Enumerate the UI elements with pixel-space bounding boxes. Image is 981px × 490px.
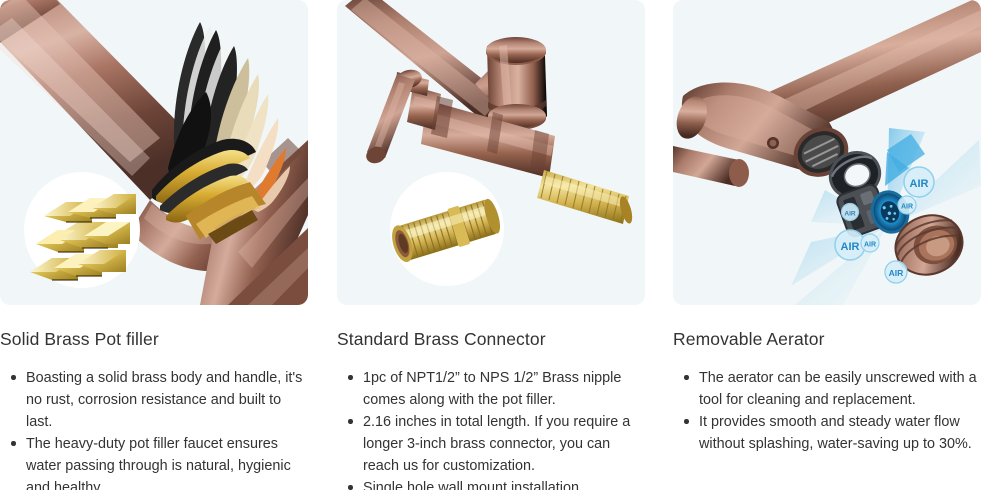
feature-column-1: Solid Brass Pot filler Boasting a solid … bbox=[0, 0, 308, 490]
column-gap-1 bbox=[308, 0, 337, 490]
bullet-text: Single hole wall mount installation bbox=[363, 480, 579, 490]
air-badge: AIR bbox=[835, 230, 865, 260]
list-item: 1pc of NPT1/2” to NPS 1/2” Brass nipple … bbox=[337, 367, 645, 411]
bullet-text: The heavy-duty pot filler faucet ensures… bbox=[26, 436, 291, 490]
svg-text:AIR: AIR bbox=[841, 241, 860, 253]
bullet-dot-icon bbox=[348, 375, 353, 380]
feature-column-2: Standard Brass Connector 1pc of NPT1/2” … bbox=[337, 0, 645, 490]
aerator-exploded-illustration: AIR AIR AIR bbox=[673, 0, 981, 305]
feature-heading-1: Solid Brass Pot filler bbox=[0, 328, 308, 350]
brass-bars-inset-circle bbox=[24, 172, 140, 288]
product-image-solid-brass-pot-filler bbox=[0, 0, 308, 305]
bullet-text: The aerator can be easily unscrewed with… bbox=[699, 370, 977, 408]
bullet-dot-icon bbox=[11, 375, 16, 380]
list-item: It provides smooth and steady water flow… bbox=[673, 411, 981, 455]
product-image-standard-brass-connector bbox=[337, 0, 645, 305]
list-item: Boasting a solid brass body and handle, … bbox=[0, 367, 308, 433]
svg-text:AIR: AIR bbox=[864, 242, 876, 249]
pot-filler-cutaway-illustration bbox=[0, 0, 308, 305]
list-item: Single hole wall mount installation bbox=[337, 477, 645, 490]
bullet-dot-icon bbox=[684, 375, 689, 380]
bullet-dot-icon bbox=[11, 441, 16, 446]
feature-bullets-1: Boasting a solid brass body and handle, … bbox=[0, 367, 308, 490]
bullet-text: It provides smooth and steady water flow… bbox=[699, 414, 972, 452]
product-image-removable-aerator: AIR AIR AIR bbox=[673, 0, 981, 305]
list-item: The aerator can be easily unscrewed with… bbox=[673, 367, 981, 411]
bullet-dot-icon bbox=[348, 419, 353, 424]
bullet-text: 1pc of NPT1/2” to NPS 1/2” Brass nipple … bbox=[363, 370, 621, 408]
air-badge: AIR bbox=[904, 167, 934, 197]
feature-column-3: AIR AIR AIR bbox=[673, 0, 981, 490]
svg-text:AIR: AIR bbox=[901, 204, 913, 211]
bullet-dot-icon bbox=[348, 485, 353, 490]
feature-bullets-2: 1pc of NPT1/2” to NPS 1/2” Brass nipple … bbox=[337, 367, 645, 490]
air-badge: AIR bbox=[842, 204, 859, 221]
feature-columns-grid: Solid Brass Pot filler Boasting a solid … bbox=[0, 0, 981, 490]
brass-connector-illustration bbox=[337, 0, 645, 305]
feature-heading-3: Removable Aerator bbox=[673, 328, 981, 350]
svg-text:AIR: AIR bbox=[889, 268, 904, 278]
column-gap-2 bbox=[645, 0, 673, 490]
list-item: The heavy-duty pot filler faucet ensures… bbox=[0, 433, 308, 490]
air-badge: AIR bbox=[898, 196, 916, 214]
air-badge: AIR bbox=[885, 261, 907, 283]
bullet-text: 2.16 inches in total length. If you requ… bbox=[363, 414, 630, 474]
list-item: 2.16 inches in total length. If you requ… bbox=[337, 411, 645, 477]
bullet-dot-icon bbox=[684, 419, 689, 424]
feature-heading-2: Standard Brass Connector bbox=[337, 328, 645, 350]
bullet-text: Boasting a solid brass body and handle, … bbox=[26, 370, 302, 430]
air-badge: AIR bbox=[861, 234, 879, 252]
feature-bullets-3: The aerator can be easily unscrewed with… bbox=[673, 367, 981, 455]
svg-text:AIR: AIR bbox=[844, 211, 856, 218]
svg-text:AIR: AIR bbox=[910, 178, 929, 190]
